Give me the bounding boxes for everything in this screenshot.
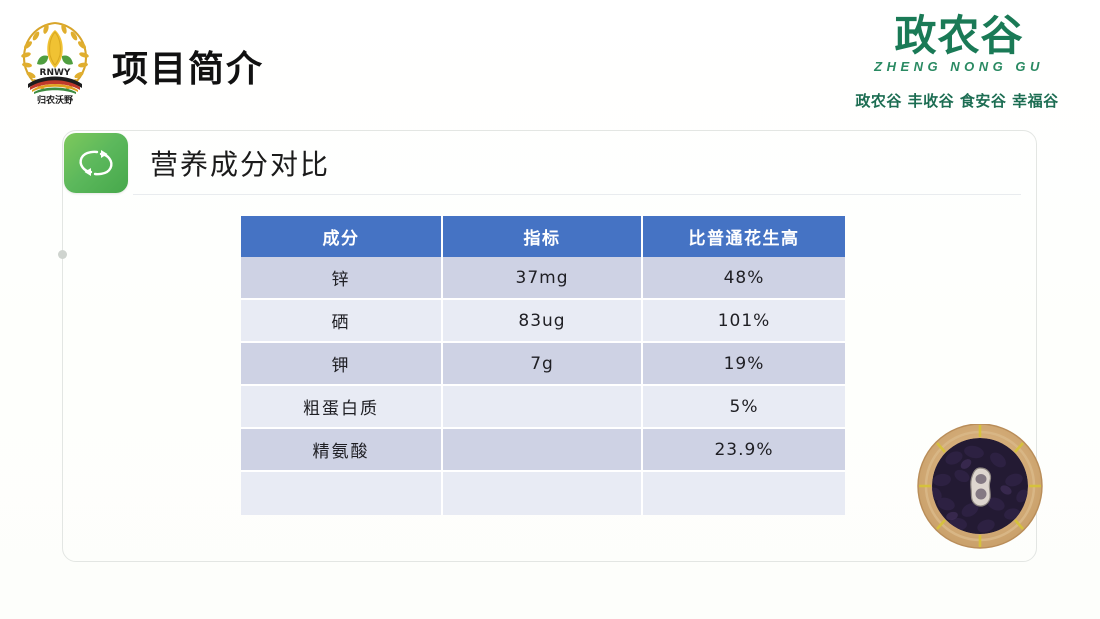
- cell-component: 硒: [241, 300, 443, 343]
- road-stripes-icon: [28, 77, 82, 95]
- page-title: 项目简介: [112, 40, 264, 92]
- zheng-nong-gu-logo: 政农谷 ZHENG NONG GU: [854, 14, 1064, 74]
- corp-logo-pinyin: ZHENG NONG GU: [854, 59, 1064, 74]
- brand-initials: RNWY: [40, 68, 71, 78]
- column-header-metric: 指标: [443, 216, 643, 257]
- cell-metric: 83ug: [443, 300, 643, 343]
- cell-delta: 48%: [643, 257, 845, 300]
- cell-component: 粗蛋白质: [241, 386, 443, 429]
- cell-component: 锌: [241, 257, 443, 300]
- table-row: 钾 7g 19%: [241, 343, 845, 386]
- section-divider: [133, 194, 1021, 195]
- brand-motto: 归农沃野: [37, 94, 73, 106]
- black-peanuts-in-basket-photo: [902, 424, 1058, 552]
- table-row: 硒 83ug 101%: [241, 300, 845, 343]
- section-header: 营养成分对比: [64, 131, 1024, 195]
- section-title: 营养成分对比: [150, 143, 330, 183]
- cell-metric: [443, 386, 643, 429]
- corn-cob-icon: [37, 30, 73, 68]
- table-header-row: 成分 指标 比普通花生高: [241, 216, 845, 257]
- slide-canvas: RNWY 归农沃野 项目简介 政农谷 ZHENG NONG GU 政农谷 丰收谷…: [0, 0, 1100, 619]
- cell-component: 精氨酸: [241, 429, 443, 472]
- cell-metric: [443, 472, 643, 515]
- cell-delta: 5%: [643, 386, 845, 429]
- recycle-loop-icon: [64, 133, 128, 193]
- cell-metric: 7g: [443, 343, 643, 386]
- table-row: 粗蛋白质 5%: [241, 386, 845, 429]
- cell-delta: 19%: [643, 343, 845, 386]
- cell-delta: 23.9%: [643, 429, 845, 472]
- cell-metric: 37mg: [443, 257, 643, 300]
- cell-metric: [443, 429, 643, 472]
- column-header-component: 成分: [241, 216, 443, 257]
- nutrition-comparison-table: 成分 指标 比普通花生高 锌 37mg 48% 硒 83ug 101% 钾 7g…: [241, 216, 845, 515]
- table-row: 精氨酸 23.9%: [241, 429, 845, 472]
- cell-delta: 101%: [643, 300, 845, 343]
- table-row: 锌 37mg 48%: [241, 257, 845, 300]
- cell-component: [241, 472, 443, 515]
- frame-accent-dot: [58, 250, 67, 259]
- column-header-delta: 比普通花生高: [643, 216, 845, 257]
- peanut-shell-icon: [971, 468, 991, 506]
- cell-delta: [643, 472, 845, 515]
- corp-logo-mark: 政农谷: [854, 14, 1064, 58]
- corp-tagline: 政农谷 丰收谷 食安谷 幸福谷: [850, 90, 1064, 111]
- cell-component: 钾: [241, 343, 443, 386]
- rnwy-corn-emblem-logo: RNWY 归农沃野: [12, 14, 98, 106]
- table-row: [241, 472, 845, 515]
- slide-header: RNWY 归农沃野 项目简介 政农谷 ZHENG NONG GU 政农谷 丰收谷…: [0, 0, 1100, 120]
